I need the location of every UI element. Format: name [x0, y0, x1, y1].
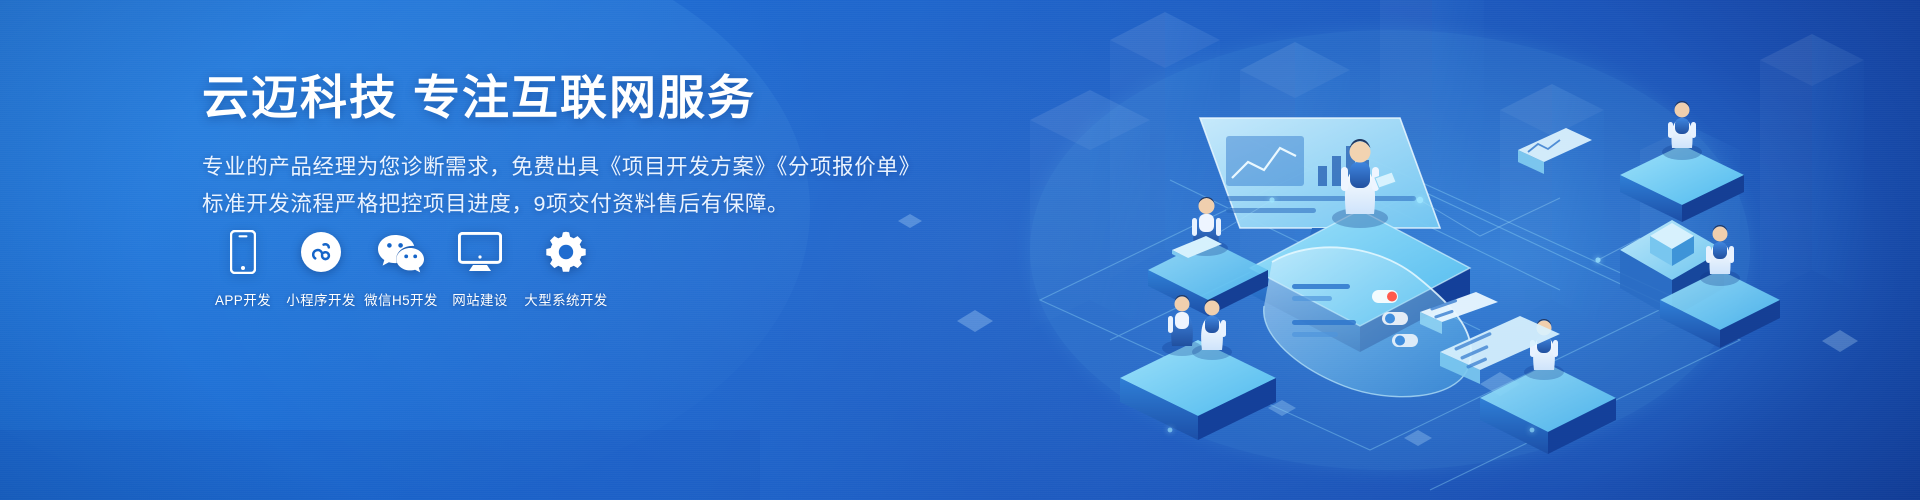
service-item-miniprogram[interactable]: 小程序开发	[282, 228, 360, 309]
hero-banner: 云迈科技 专注互联网服务 专业的产品经理为您诊断需求，免费出具《项目开发方案》《…	[0, 0, 1920, 500]
subtitle-line-1: 专业的产品经理为您诊断需求，免费出具《项目开发方案》《分项报价单》	[202, 149, 922, 186]
desktop-monitor-icon	[458, 228, 502, 276]
service-list: APP开发 小程序开发	[204, 228, 614, 309]
hero-subtitle: 专业的产品经理为您诊断需求，免费出具《项目开发方案》《分项报价单》 标准开发流程…	[202, 149, 922, 223]
service-label-system: 大型系统开发	[524, 289, 607, 309]
service-label-website: 网站建设	[452, 289, 508, 309]
subtitle-line-2: 标准开发流程严格把控项目进度，9项交付资料售后有保障。	[202, 186, 922, 223]
service-item-wechat[interactable]: 微信H5开发	[360, 228, 442, 309]
isometric-illustration	[920, 0, 1920, 500]
illustration-figure-upper-right	[1662, 101, 1702, 160]
service-item-system[interactable]: 大型系统开发	[518, 228, 614, 309]
mini-program-icon	[300, 228, 342, 276]
hero-copy: 云迈科技 专注互联网服务 专业的产品经理为您诊断需求，免费出具《项目开发方案》《…	[202, 70, 922, 223]
service-item-website[interactable]: 网站建设	[442, 228, 518, 309]
service-label-miniprogram: 小程序开发	[286, 289, 356, 309]
gear-icon	[545, 228, 587, 276]
service-item-app[interactable]: APP开发	[204, 228, 282, 309]
service-label-wechat: 微信H5开发	[364, 289, 438, 309]
service-label-app: APP开发	[215, 289, 271, 309]
page-title: 云迈科技 专注互联网服务	[202, 70, 922, 125]
wechat-icon	[377, 228, 425, 276]
mobile-phone-icon	[230, 228, 256, 276]
